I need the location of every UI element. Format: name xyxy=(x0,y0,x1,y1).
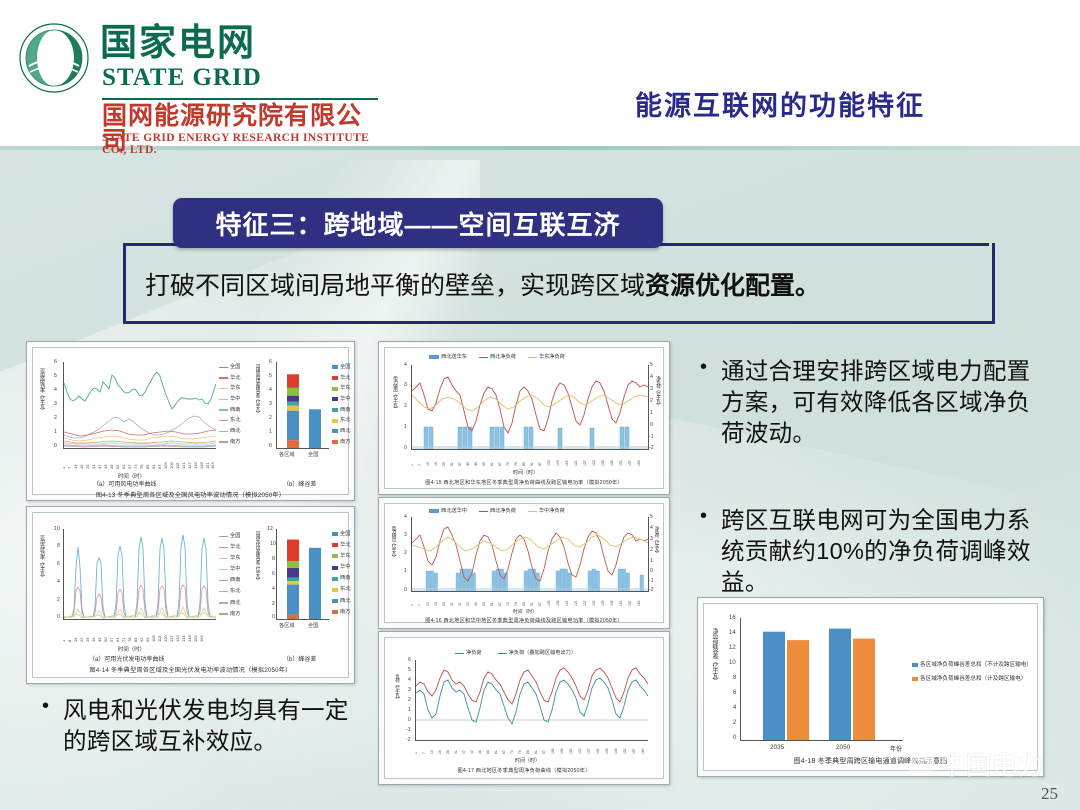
svg-text:103: 103 xyxy=(551,748,555,754)
fig413a-xticks: 17 1319 2531 3743 4955 6167 7379 8591 97… xyxy=(63,449,215,471)
svg-text:22: 22 xyxy=(79,637,84,642)
svg-text:43: 43 xyxy=(103,464,108,469)
fig415-xlabel: 时间（时） xyxy=(513,469,538,476)
svg-text:19: 19 xyxy=(438,750,442,754)
legend-item: 净负荷 xyxy=(455,650,482,657)
fig416-xlabel: 时间（时） xyxy=(513,608,537,615)
legend-item: 西北 xyxy=(219,600,240,607)
logo-english-name: STATE GRID xyxy=(102,65,262,90)
svg-text:13: 13 xyxy=(430,750,434,754)
svg-text:79: 79 xyxy=(518,750,522,754)
legend-item: 西北送华中 xyxy=(429,508,467,515)
fig417-xlabel: 时间（时） xyxy=(515,757,540,764)
svg-text:25: 25 xyxy=(442,462,446,466)
svg-text:85: 85 xyxy=(145,464,150,469)
fig415-legend: 西北送华东 西北净负荷 华东净负荷 xyxy=(429,354,565,361)
svg-text:85: 85 xyxy=(522,602,526,606)
svg-text:162: 162 xyxy=(199,635,204,642)
svg-text:13: 13 xyxy=(426,602,430,606)
svg-text:49: 49 xyxy=(109,464,114,469)
figure-inner-4-17: 净负荷 净负荷（叠加跨区输电出力） 负荷（亿千瓦） 6 5 4 3 2 1 0 … xyxy=(384,637,664,779)
svg-text:67: 67 xyxy=(498,602,502,606)
bullet-marker: • xyxy=(700,356,707,449)
legend-item: 全国 xyxy=(332,531,350,538)
svg-text:97: 97 xyxy=(157,464,162,469)
svg-text:73: 73 xyxy=(510,750,514,754)
fig414-caption: 图4-14 冬季典型周各区域及全国光伏发电功率波动情况（模拟2050年） xyxy=(33,665,348,674)
legend-item: 南方 xyxy=(332,609,350,616)
fig413a-svg xyxy=(64,362,216,448)
svg-text:37: 37 xyxy=(462,750,466,754)
svg-text:31: 31 xyxy=(91,464,96,469)
legend-item: 华东净负荷 xyxy=(528,354,565,361)
svg-text:7: 7 xyxy=(67,466,72,469)
svg-text:115: 115 xyxy=(175,462,180,469)
fig417-legend: 净负荷 净负荷（叠加跨区输电出力） xyxy=(455,650,576,657)
legend-item: 西北送华东 xyxy=(429,354,467,361)
page-title: 能源互联网的功能特征 xyxy=(520,84,1040,123)
legend-item: 华中 xyxy=(219,396,240,403)
legend-item: 华中净负荷 xyxy=(528,508,565,515)
banner-subtitle-bold: 资源优化配置。 xyxy=(645,266,820,302)
legend-item: 全国 xyxy=(332,364,350,371)
legend-item: 华东 xyxy=(219,385,240,392)
fig416-svg xyxy=(412,517,648,591)
fig416-y2label: 净负荷（亿千瓦） xyxy=(654,526,660,582)
svg-text:127: 127 xyxy=(169,635,174,642)
svg-text:121: 121 xyxy=(574,600,578,606)
svg-text:99: 99 xyxy=(145,637,150,642)
bullet-right-2-text: 跨区互联电网可为全国电力系统贡献约10%的净负荷调峰效益。 xyxy=(721,505,1040,598)
fig413a-subcaption: （a）可用风电功率曲线 xyxy=(93,479,156,488)
svg-text:48: 48 xyxy=(478,750,482,754)
legend-item: 全国 xyxy=(219,533,240,540)
legend-item: 西南 xyxy=(332,407,350,414)
legend-item: 华北 xyxy=(219,544,240,551)
svg-text:121: 121 xyxy=(578,748,582,754)
fig413b-subcaption: （b）峰谷差 xyxy=(283,479,316,488)
svg-text:13: 13 xyxy=(426,462,430,466)
svg-text:163: 163 xyxy=(637,460,641,466)
fig414b-subcaption: （b）峰谷差 xyxy=(283,654,316,663)
svg-text:29: 29 xyxy=(85,637,90,642)
fig414a-xlabel: 时间（时） xyxy=(118,645,145,653)
svg-text:55: 55 xyxy=(482,462,486,466)
svg-text:55: 55 xyxy=(115,464,120,469)
svg-text:163: 163 xyxy=(210,462,215,469)
bullet-right-2: • 跨区互联电网可为全国电力系统贡献约10%的净负荷调峰效益。 xyxy=(700,505,1040,598)
legend-item: 华东 xyxy=(332,385,350,392)
svg-text:25: 25 xyxy=(442,602,446,606)
legend-item: 各区域净负荷峰谷差总和（不计及跨区输电） xyxy=(912,662,1032,669)
legend-item: 东北 xyxy=(332,417,350,424)
svg-text:79: 79 xyxy=(139,464,144,469)
svg-text:13: 13 xyxy=(73,464,78,469)
bullet-right-1: • 通过合理安排跨区域电力配置方案，可有效降低各区域净负荷波动。 xyxy=(700,356,1040,449)
svg-text:139: 139 xyxy=(601,460,605,466)
svg-text:85: 85 xyxy=(133,637,138,642)
svg-text:145: 145 xyxy=(610,600,614,606)
svg-text:133: 133 xyxy=(596,748,600,754)
svg-text:103: 103 xyxy=(163,462,168,469)
svg-text:61: 61 xyxy=(494,750,498,754)
svg-text:73: 73 xyxy=(506,462,510,466)
svg-text:8: 8 xyxy=(67,639,72,642)
banner-subtitle-plain: 打破不同区域间局地平衡的壁垒，实现跨区域 xyxy=(145,266,645,302)
fig413a-plot xyxy=(63,362,216,449)
svg-text:7: 7 xyxy=(422,752,426,754)
svg-text:106: 106 xyxy=(151,635,156,642)
fig417-plot xyxy=(415,660,648,741)
legend-item: 南方 xyxy=(219,611,240,618)
legend-item: 华中 xyxy=(332,564,350,571)
svg-text:91: 91 xyxy=(534,750,538,754)
fig413b-plot xyxy=(276,362,329,449)
fig414b-plot xyxy=(276,529,329,620)
fig414a-xticks: 18 1522 2936 4350 5764 7178 8592 99106 1… xyxy=(63,620,215,644)
fig414b-svg xyxy=(277,529,329,619)
svg-text:50: 50 xyxy=(103,637,108,642)
legend-item: 西北 xyxy=(332,428,350,435)
svg-text:103: 103 xyxy=(547,600,551,606)
svg-text:97: 97 xyxy=(542,750,546,754)
svg-text:1: 1 xyxy=(415,752,418,754)
logo-chinese-name: 国家电网 xyxy=(100,24,256,61)
svg-text:91: 91 xyxy=(530,602,534,606)
svg-text:31: 31 xyxy=(454,750,458,754)
fig414a-subcaption: （a）可用光伏发电功率曲线 xyxy=(89,654,164,663)
svg-text:148: 148 xyxy=(187,635,192,642)
fig418-plot xyxy=(740,618,903,741)
svg-text:121: 121 xyxy=(181,462,186,469)
fig417-caption: 图4-17 西北地区冬季典型周净负荷曲线（模拟2050年） xyxy=(385,767,663,774)
fig415-caption: 图4-15 西北地区和华东地区冬季典型周净负荷曲线及跨区输电功率（模拟2050年… xyxy=(385,479,663,486)
svg-text:37: 37 xyxy=(458,462,462,466)
logo-divider xyxy=(102,98,378,100)
svg-text:151: 151 xyxy=(619,600,623,606)
fig417-ylabel: 负荷（亿千瓦） xyxy=(393,674,400,724)
fig415-y2label: 净负荷（亿千瓦） xyxy=(654,376,661,438)
svg-text:91: 91 xyxy=(530,462,534,466)
svg-text:67: 67 xyxy=(498,462,502,466)
svg-text:43: 43 xyxy=(97,637,102,642)
svg-text:145: 145 xyxy=(610,460,614,466)
svg-text:127: 127 xyxy=(587,748,591,754)
svg-text:55: 55 xyxy=(482,602,486,606)
fig415-plot xyxy=(411,365,649,450)
banner-subtitle: 打破不同区域间局地平衡的壁垒，实现跨区域资源优化配置。 xyxy=(145,258,975,310)
legend-item: 西北净负荷 xyxy=(479,354,516,361)
svg-text:49: 49 xyxy=(474,602,478,606)
legend-item: 东北 xyxy=(332,586,350,593)
svg-text:109: 109 xyxy=(556,460,560,466)
legend-item: 华东 xyxy=(332,553,350,560)
fig414a-ylabel: 可用光伏功率（亿千瓦） xyxy=(39,535,46,615)
svg-text:157: 157 xyxy=(628,600,632,606)
svg-text:71: 71 xyxy=(121,637,126,642)
svg-text:163: 163 xyxy=(637,600,641,606)
figure-card-4-13: 可用风电功率（亿千瓦） 6 5 4 3 2 1 0 xyxy=(26,341,355,501)
svg-text:7: 7 xyxy=(418,604,422,606)
legend-item: 西南 xyxy=(219,577,240,584)
svg-text:127: 127 xyxy=(583,460,587,466)
svg-text:145: 145 xyxy=(614,748,618,754)
fig415-xticks: 17 1319 2531 3743 4955 6167 7379 8591 97… xyxy=(411,450,647,468)
state-grid-logo: 国家电网 STATE GRID 国网能源研究院有限公司 STATE GRID E… xyxy=(18,16,378,136)
legend-item: 南方 xyxy=(219,439,240,446)
legend-item: 华东 xyxy=(219,555,240,562)
svg-text:67: 67 xyxy=(502,750,506,754)
legend-item: 西南 xyxy=(332,575,350,582)
fig418-xtick-2050: 2050 xyxy=(836,744,850,751)
svg-text:25: 25 xyxy=(446,750,450,754)
svg-text:157: 157 xyxy=(628,460,632,466)
svg-text:133: 133 xyxy=(592,600,596,606)
figure-card-4-15: 西北送华东 西北净负荷 华东净负荷 电力输出（亿千瓦） 净负荷（亿千瓦） xyxy=(378,341,670,495)
svg-text:115: 115 xyxy=(565,460,569,466)
fig418-xlabel: 年份 xyxy=(890,744,902,753)
svg-text:109: 109 xyxy=(560,748,564,754)
fig413b-ylabel: 可用风电功率峰谷差（亿千瓦） xyxy=(255,364,261,456)
fig413-caption: 图4-13 冬季典型周各区域及全国风电功率波动情况（模拟2050年） xyxy=(33,490,348,499)
svg-text:121: 121 xyxy=(574,460,578,466)
fig414b-xtick-regional: 各区域 xyxy=(279,622,295,629)
fig413b-legend: 全国 华北 华东 华中 西南 东北 西北 南方 xyxy=(332,364,350,445)
svg-text:133: 133 xyxy=(592,460,596,466)
svg-text:157: 157 xyxy=(632,748,636,754)
svg-text:61: 61 xyxy=(490,602,494,606)
svg-text:7: 7 xyxy=(418,464,422,466)
svg-text:78: 78 xyxy=(127,637,132,642)
svg-text:15: 15 xyxy=(73,637,78,642)
svg-text:163: 163 xyxy=(641,748,645,754)
legend-item: 西南 xyxy=(219,407,240,414)
svg-text:133: 133 xyxy=(193,462,198,469)
svg-text:19: 19 xyxy=(79,464,84,469)
svg-text:151: 151 xyxy=(623,748,627,754)
bullet-bottom-left-text: 风电和光伏发电均具有一定的跨区域互补效应。 xyxy=(63,695,362,757)
svg-text:109: 109 xyxy=(169,462,174,469)
fig414b-ylabel: 可用光伏功率峰谷差（亿千瓦） xyxy=(255,531,261,625)
fig414b-xtick-national: 全国 xyxy=(308,622,318,629)
svg-text:61: 61 xyxy=(121,464,126,469)
svg-text:85: 85 xyxy=(526,750,530,754)
fig414a-legend: 全国 华北 华东 华中 西南 东北 西北 南方 xyxy=(219,533,240,617)
svg-text:139: 139 xyxy=(199,462,204,469)
bullet-marker: • xyxy=(42,695,49,757)
svg-text:1: 1 xyxy=(411,604,414,606)
fig414a-plot xyxy=(63,529,216,620)
svg-text:19: 19 xyxy=(434,602,438,606)
svg-text:103: 103 xyxy=(547,460,551,466)
figure-inner-4-13: 可用风电功率（亿千瓦） 6 5 4 3 2 1 0 xyxy=(32,347,349,495)
svg-text:31: 31 xyxy=(450,602,454,606)
svg-text:1: 1 xyxy=(63,466,66,469)
legend-item: 西北净负荷 xyxy=(479,508,516,515)
feature-tag-label: 特征三：跨地域——空间互联互济 xyxy=(215,205,620,242)
bullet-bottom-left: • 风电和光伏发电均具有一定的跨区域互补效应。 xyxy=(42,695,362,757)
svg-text:85: 85 xyxy=(522,462,526,466)
legend-item: 南方 xyxy=(332,439,350,446)
svg-text:134: 134 xyxy=(175,635,180,642)
svg-text:155: 155 xyxy=(193,635,198,642)
svg-text:127: 127 xyxy=(583,600,587,606)
legend-item: 净负荷（叠加跨区输电出力） xyxy=(498,650,576,657)
svg-text:115: 115 xyxy=(565,601,569,606)
svg-text:25: 25 xyxy=(85,464,90,469)
svg-text:43: 43 xyxy=(466,602,470,606)
figure-card-4-16: 西北送华中 西北净负荷 华中净负荷 电力输出（亿千瓦） 净负荷（亿千瓦） xyxy=(378,497,670,629)
svg-text:139: 139 xyxy=(605,748,609,754)
fig413a-ylabel: 可用风电功率（亿千瓦） xyxy=(39,368,46,452)
fig417-svg xyxy=(416,660,648,740)
fig414b-legend: 全国 华北 华东 华中 西南 东北 西北 南方 xyxy=(332,531,350,615)
svg-text:113: 113 xyxy=(157,635,162,642)
svg-text:31: 31 xyxy=(450,462,454,466)
svg-text:97: 97 xyxy=(538,602,542,606)
legend-item: 东北 xyxy=(219,588,240,595)
speech-bubble-icon xyxy=(909,754,935,774)
svg-text:91: 91 xyxy=(151,464,156,469)
svg-text:43: 43 xyxy=(466,462,470,466)
svg-text:151: 151 xyxy=(619,460,623,466)
slide-root: 国家电网 STATE GRID 国网能源研究院有限公司 STATE GRID E… xyxy=(0,0,1080,810)
fig415-ylabel: 电力输出（亿千瓦） xyxy=(391,376,398,438)
institute-english-name: STATE GRID ENERGY RESEARCH INSTITUTE CO.… xyxy=(102,133,378,156)
fig416-caption: 图4-16 西北地区和华中地区冬季典型周净负荷曲线及跨区输电功率（模拟2050年… xyxy=(385,617,663,624)
feature-tag: 特征三：跨地域——空间互联互济 xyxy=(173,198,663,248)
svg-text:109: 109 xyxy=(556,600,560,606)
svg-text:67: 67 xyxy=(127,464,132,469)
legend-item: 西北 xyxy=(219,428,240,435)
svg-text:64: 64 xyxy=(115,637,120,642)
legend-item: 东北 xyxy=(219,417,240,424)
svg-text:61: 61 xyxy=(490,462,494,466)
fig414a-svg xyxy=(64,529,216,619)
fig418-ylabel: 净负荷峰谷差（亿千瓦） xyxy=(710,628,719,728)
watermark: 中国电力 xyxy=(909,746,1044,782)
fig413b-xtick-national: 全国 xyxy=(308,451,318,458)
svg-text:97: 97 xyxy=(538,462,542,466)
watermark-text: 中国电力 xyxy=(940,746,1044,782)
fig416-legend: 西北送华中 西北净负荷 华中净负荷 xyxy=(429,508,565,515)
state-grid-globe-icon xyxy=(18,22,90,94)
legend-item: 华北 xyxy=(332,375,350,382)
legend-item: 各区域净负荷峰谷差总和（计及跨区输电） xyxy=(912,676,1032,683)
svg-text:19: 19 xyxy=(434,462,438,466)
fig416-xticks: 17 1319 2531 3743 4955 6167 7379 8591 97… xyxy=(411,592,647,608)
figure-inner-4-15: 西北送华东 西北净负荷 华东净负荷 电力输出（亿千瓦） 净负荷（亿千瓦） xyxy=(384,347,664,489)
figure-inner-4-14: 可用光伏功率（亿千瓦） 10 8 6 4 2 0 18 1522 xyxy=(32,512,349,678)
fig413b-xtick-regional: 各区域 xyxy=(279,451,295,458)
legend-item: 西北 xyxy=(332,598,350,605)
legend-item: 华北 xyxy=(332,542,350,549)
bullet-marker: • xyxy=(700,505,707,598)
fig417-xticks: 17 1319 2531 3742 4855 6167 7379 8591 97… xyxy=(415,740,647,756)
svg-text:1: 1 xyxy=(411,464,414,466)
legend-item: 全国 xyxy=(219,364,240,371)
fig418-legend: 各区域净负荷峰谷差总和（不计及跨区输电） 各区域净负荷峰谷差总和（计及跨区输电） xyxy=(912,662,1032,683)
svg-text:92: 92 xyxy=(139,637,144,642)
fig413b-svg xyxy=(277,362,329,448)
fig415-svg xyxy=(412,365,648,449)
fig416-plot xyxy=(411,517,649,592)
svg-text:79: 79 xyxy=(514,602,518,606)
legend-item: 华中 xyxy=(219,566,240,573)
fig413a-legend: 全国 华北 华东 华中 西南 东北 西北 南方 xyxy=(219,364,240,445)
svg-text:57: 57 xyxy=(109,637,114,642)
svg-text:127: 127 xyxy=(187,462,192,469)
legend-item: 华中 xyxy=(332,396,350,403)
fig418-xtick-2035: 2035 xyxy=(770,744,784,751)
svg-text:139: 139 xyxy=(601,600,605,606)
figure-inner-4-16: 西北送华中 西北净负荷 华中净负荷 电力输出（亿千瓦） 净负荷（亿千瓦） xyxy=(384,503,664,623)
figure-card-4-17: 净负荷 净负荷（叠加跨区输电出力） 负荷（亿千瓦） 6 5 4 3 2 1 0 … xyxy=(378,631,670,785)
bullet-right-1-text: 通过合理安排跨区域电力配置方案，可有效降低各区域净负荷波动。 xyxy=(721,356,1040,449)
svg-text:73: 73 xyxy=(133,464,138,469)
svg-text:49: 49 xyxy=(474,462,478,466)
svg-text:79: 79 xyxy=(514,462,518,466)
svg-text:42: 42 xyxy=(470,750,474,754)
svg-text:37: 37 xyxy=(458,602,462,606)
fig416-ylabel: 电力输出（亿千瓦） xyxy=(391,526,397,582)
svg-text:120: 120 xyxy=(163,635,168,642)
figure-card-4-14: 可用光伏功率（亿千瓦） 10 8 6 4 2 0 18 1522 xyxy=(26,506,355,684)
svg-text:73: 73 xyxy=(506,602,510,606)
svg-text:55: 55 xyxy=(486,750,490,754)
page-number: 25 xyxy=(1041,784,1058,804)
svg-text:115: 115 xyxy=(569,749,573,754)
svg-text:37: 37 xyxy=(97,464,102,469)
fig418-svg xyxy=(741,618,903,740)
svg-text:36: 36 xyxy=(91,637,96,642)
legend-item: 华北 xyxy=(219,375,240,382)
svg-text:141: 141 xyxy=(181,635,186,642)
svg-text:1: 1 xyxy=(63,639,66,642)
